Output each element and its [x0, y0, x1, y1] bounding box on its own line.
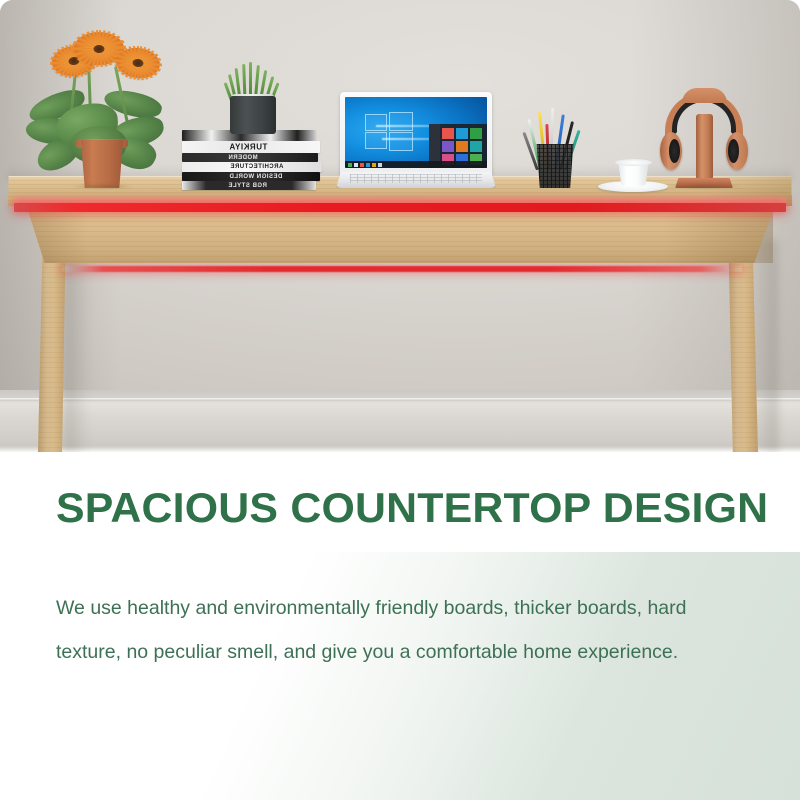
led-light-strip: [14, 203, 786, 212]
product-photo: TURKIYA MODERN ARCHITECTURE DESIGN WORLD…: [0, 0, 800, 452]
gerbera-flower: [114, 45, 161, 80]
succulent-plant: [222, 62, 284, 134]
apron-right-shadow: [663, 211, 773, 263]
magazine-title: ARCHITECTURE: [230, 164, 283, 170]
gerbera-plant: [26, 18, 166, 188]
tile: [470, 128, 482, 139]
tile: [442, 128, 454, 139]
headphone-contact-shadow: [668, 184, 740, 189]
magazine-title: TURKIYA: [229, 143, 267, 152]
charcoal-pot: [230, 96, 276, 134]
pen-cup: [527, 108, 579, 188]
mesh-cup: [535, 144, 575, 188]
taskbar-icon: [372, 163, 376, 167]
earpad: [669, 139, 680, 163]
laptop-lid: [340, 92, 492, 176]
tile: [442, 141, 454, 152]
taskbar-icon: [354, 163, 358, 167]
magazine-title: MODERN: [228, 155, 258, 161]
flower-center: [94, 45, 105, 53]
plant-contact-shadow: [72, 184, 134, 189]
tile: [456, 128, 468, 139]
magazine-title: RGB STYLE: [228, 183, 267, 189]
page-title: SPACIOUS COUNTERTOP DESIGN: [56, 484, 768, 532]
magazine-title: DESIGN WORLD: [229, 174, 282, 180]
magazine-stack: TURKIYA MODERN ARCHITECTURE DESIGN WORLD…: [182, 130, 322, 190]
tile: [470, 141, 482, 152]
headphone-earcup-left: [660, 132, 682, 170]
description-text: We use healthy and environmentally frien…: [56, 586, 728, 674]
terracotta-pot: [78, 140, 126, 188]
laptop-keyboard-base: [336, 172, 496, 188]
taskbar-icon: [348, 163, 352, 167]
product-detail-page: TURKIYA MODERN ARCHITECTURE DESIGN WORLD…: [0, 0, 800, 800]
laptop-screen: [345, 97, 487, 168]
led-glow-reflection: [62, 266, 742, 272]
baseboard: [0, 390, 800, 452]
headphones: [655, 86, 753, 188]
magazine: RGB STYLE: [182, 181, 316, 190]
magazine: MODERN: [182, 153, 318, 162]
headphone-earcup-right: [726, 132, 748, 170]
laptop: [336, 92, 496, 188]
taskbar-icon: [378, 163, 382, 167]
desk-apron: [28, 211, 773, 263]
stand-arm: [682, 88, 727, 103]
taskbar-icon: [366, 163, 370, 167]
taskbar-icon: [360, 163, 364, 167]
tile: [456, 141, 468, 152]
start-menu-tiles: [442, 128, 482, 165]
taskbar: [345, 161, 487, 168]
earpad: [728, 139, 739, 163]
cup-body: [617, 163, 650, 186]
magazine: ARCHITECTURE: [182, 162, 322, 172]
laptop-keyboard: [350, 174, 482, 183]
stand-post: [696, 114, 713, 180]
cup-rim: [615, 159, 652, 166]
magazine: DESIGN WORLD: [182, 172, 320, 181]
magazine: TURKIYA: [182, 141, 320, 153]
windows-logo: [365, 114, 411, 150]
